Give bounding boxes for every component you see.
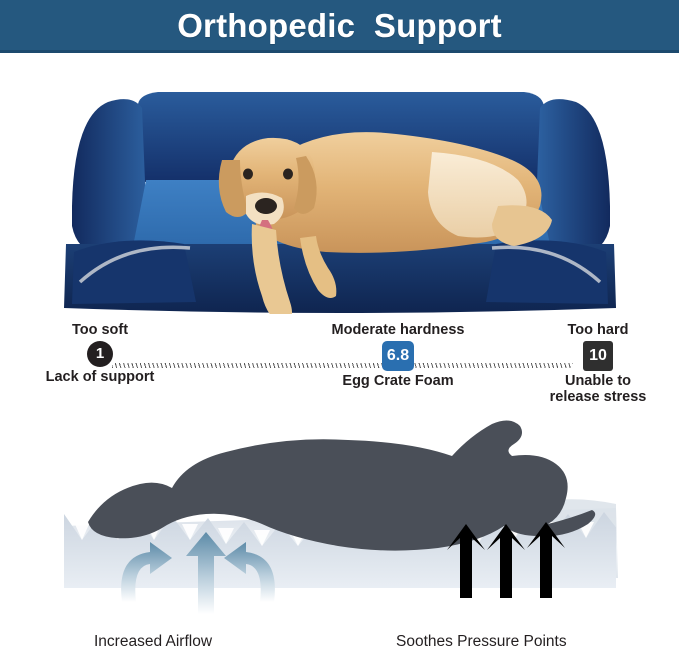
pressure-arrows [447,522,565,598]
header-banner: Orthopedic Support [0,0,679,53]
scale-marker-wrap-1: 1 [12,339,188,369]
scale-bottom-label-unable-line2: release stress [522,389,674,406]
caption-soothes-pressure-points: Soothes Pressure Points [396,634,567,650]
scale-marker-wrap-68: 6.8 [300,339,496,373]
scale-bottom-label-unable-line1: Unable to [522,373,674,390]
dog-bed-illustration [0,56,679,314]
product-photo [0,56,679,314]
hardness-scale: Too soft 1 Lack of support Moderate hard… [0,320,679,418]
scale-bottom-label-lack-of-support: Lack of support [12,369,188,386]
scale-top-label-moderate-hardness: Moderate hardness [300,322,496,339]
scale-top-label-too-soft: Too soft [12,322,188,339]
foam-diagram [0,418,679,628]
scale-marker-wrap-10: 10 [522,339,674,373]
page-title: Orthopedic Support [177,9,502,42]
scale-top-label-too-hard: Too hard [522,322,674,339]
foam-cross-section [0,418,679,628]
scale-point-too-hard: Too hard 10 Unable to release stress [522,322,674,406]
scale-point-too-soft: Too soft 1 Lack of support [12,322,188,385]
scale-marker-10: 10 [583,341,613,371]
scale-marker-1: 1 [87,341,113,367]
scale-marker-6-8: 6.8 [382,341,414,371]
scale-point-moderate: Moderate hardness 6.8 Egg Crate Foam [300,322,496,389]
diagram-captions: Increased Airflow Soothes Pressure Point… [0,634,679,658]
scale-bottom-label-egg-crate-foam: Egg Crate Foam [300,373,496,390]
caption-increased-airflow: Increased Airflow [94,634,212,650]
